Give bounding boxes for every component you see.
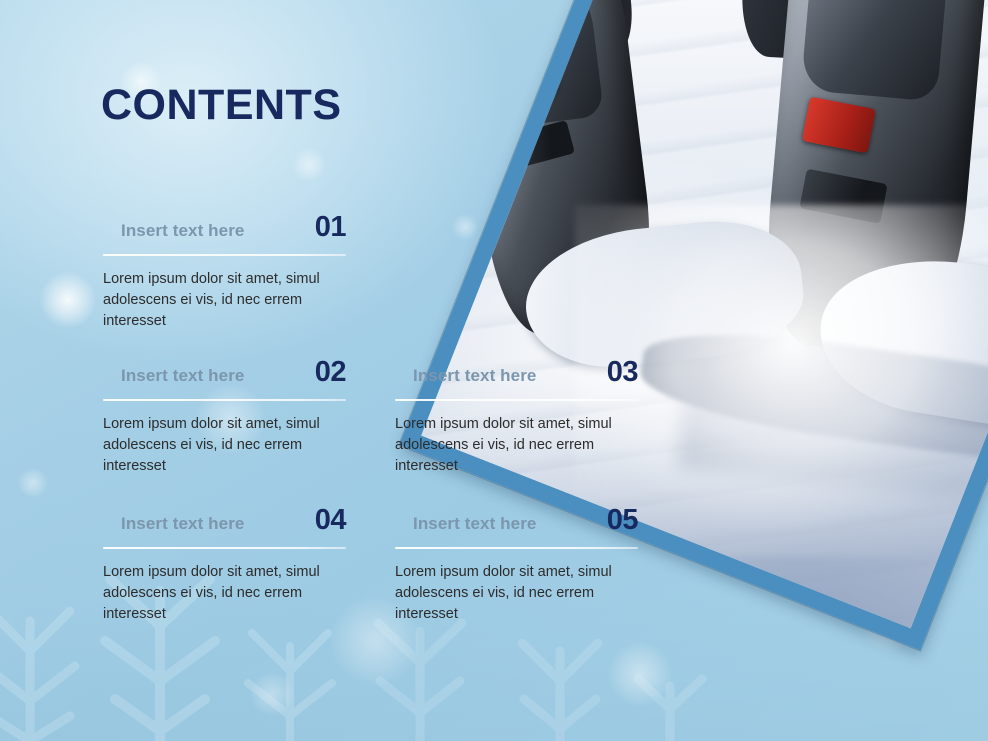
content-item-number: 01 bbox=[315, 213, 346, 242]
content-item-divider bbox=[103, 399, 346, 401]
content-item-header: Insert text here 01 bbox=[103, 213, 346, 242]
content-item-number: 02 bbox=[315, 358, 346, 387]
content-item-divider bbox=[103, 254, 346, 256]
content-item-01[interactable]: Insert text here 01 Lorem ipsum dolor si… bbox=[103, 213, 346, 332]
content-item-label: Insert text here bbox=[121, 514, 244, 534]
content-item-body: Lorem ipsum dolor sit amet, simul adoles… bbox=[395, 414, 631, 477]
boot-buckle-red bbox=[802, 95, 876, 152]
content-item-label: Insert text here bbox=[121, 221, 244, 241]
content-item-02[interactable]: Insert text here 02 Lorem ipsum dolor si… bbox=[103, 358, 346, 477]
content-item-body: Lorem ipsum dolor sit amet, simul adoles… bbox=[103, 414, 339, 477]
content-item-number: 05 bbox=[607, 506, 638, 535]
content-item-header: Insert text here 02 bbox=[103, 358, 346, 387]
content-column: CONTENTS Insert text here 01 Lorem ipsum… bbox=[0, 0, 700, 741]
content-item-header: Insert text here 05 bbox=[395, 506, 638, 535]
content-item-header: Insert text here 04 bbox=[103, 506, 346, 535]
content-item-04[interactable]: Insert text here 04 Lorem ipsum dolor si… bbox=[103, 506, 346, 625]
boot-cuff bbox=[800, 0, 952, 101]
content-item-body: Lorem ipsum dolor sit amet, simul adoles… bbox=[395, 562, 631, 625]
content-item-label: Insert text here bbox=[121, 366, 244, 386]
content-item-label: Insert text here bbox=[413, 366, 536, 386]
content-item-header: Insert text here 03 bbox=[395, 358, 638, 387]
content-item-03[interactable]: Insert text here 03 Lorem ipsum dolor si… bbox=[395, 358, 638, 477]
content-item-body: Lorem ipsum dolor sit amet, simul adoles… bbox=[103, 269, 339, 332]
content-item-05[interactable]: Insert text here 05 Lorem ipsum dolor si… bbox=[395, 506, 638, 625]
content-item-divider bbox=[395, 547, 638, 549]
contents-slide: CONTENTS Insert text here 01 Lorem ipsum… bbox=[0, 0, 988, 741]
page-title: CONTENTS bbox=[101, 84, 342, 127]
content-item-divider bbox=[103, 547, 346, 549]
content-item-divider bbox=[395, 399, 638, 401]
content-item-body: Lorem ipsum dolor sit amet, simul adoles… bbox=[103, 562, 339, 625]
content-item-label: Insert text here bbox=[413, 514, 536, 534]
content-item-number: 03 bbox=[607, 358, 638, 387]
content-item-number: 04 bbox=[315, 506, 346, 535]
